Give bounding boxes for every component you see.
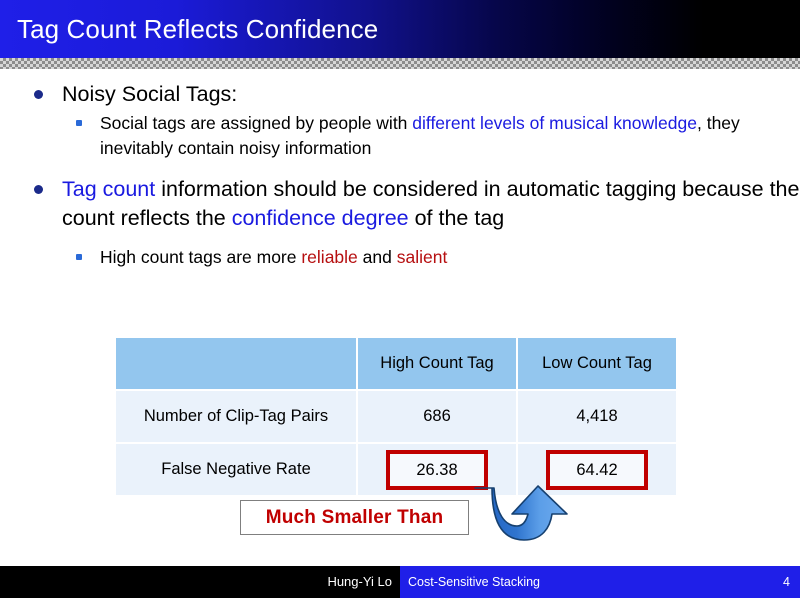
table-row: False Negative Rate 26.38 64.42 xyxy=(116,444,676,495)
sub-bullet-highlight-musical-knowledge: different levels of musical knowledge xyxy=(412,113,697,133)
sub-bullet-highlight-salient: salient xyxy=(397,247,448,267)
cell-clip-tag-pairs-high: 686 xyxy=(358,391,518,444)
sub-bullet-text-part1: High count tags are more xyxy=(100,247,301,267)
bullet-tag-count-information: Tag count information should be consider… xyxy=(0,175,800,233)
table-header-row: High Count Tag Low Count Tag xyxy=(116,338,676,391)
sub-bullet-text-part1: Social tags are assigned by people with xyxy=(100,113,412,133)
header-checker-divider xyxy=(0,58,800,69)
bullet-text-part2: of the tag xyxy=(409,206,505,230)
sub-bullet-dot-icon xyxy=(76,120,82,126)
footer-subject: Cost-Sensitive Stacking xyxy=(408,566,540,598)
bullet-dot-icon xyxy=(34,90,43,99)
table-row: Number of Clip-Tag Pairs 686 4,418 xyxy=(116,391,676,444)
sub-bullet-text-part2: and xyxy=(358,247,397,267)
footer-author: Hung-Yi Lo xyxy=(0,566,392,598)
curved-up-arrow-icon xyxy=(466,474,588,546)
sub-bullet-high-count-tags: High count tags are more reliable and sa… xyxy=(0,245,800,270)
callout-much-smaller-than: Much Smaller Than xyxy=(240,500,469,535)
row-label-clip-tag-pairs: Number of Clip-Tag Pairs xyxy=(116,391,358,444)
slide-body: Noisy Social Tags: Social tags are assig… xyxy=(0,80,800,270)
row-label-false-negative-rate: False Negative Rate xyxy=(116,444,358,495)
table-header-high-count-tag: High Count Tag xyxy=(358,338,518,391)
footer-page-number: 4 xyxy=(783,566,790,598)
sub-bullet-highlight-reliable: reliable xyxy=(301,247,357,267)
page-title: Tag Count Reflects Confidence xyxy=(17,12,378,46)
bullet-highlight-tag-count: Tag count xyxy=(62,177,155,201)
cell-clip-tag-pairs-low: 4,418 xyxy=(518,391,676,444)
bullet-dot-icon xyxy=(34,185,43,194)
sub-bullet-dot-icon xyxy=(76,254,82,260)
statistics-table: High Count Tag Low Count Tag Number of C… xyxy=(116,338,676,495)
table-header-blank xyxy=(116,338,358,391)
bullet-text: Noisy Social Tags: xyxy=(62,82,237,106)
table-header-low-count-tag: Low Count Tag xyxy=(518,338,676,391)
bullet-noisy-social-tags: Noisy Social Tags: xyxy=(0,80,800,109)
bullet-highlight-confidence-degree: confidence degree xyxy=(232,206,409,230)
sub-bullet-social-tags-assigned: Social tags are assigned by people with … xyxy=(0,111,800,161)
